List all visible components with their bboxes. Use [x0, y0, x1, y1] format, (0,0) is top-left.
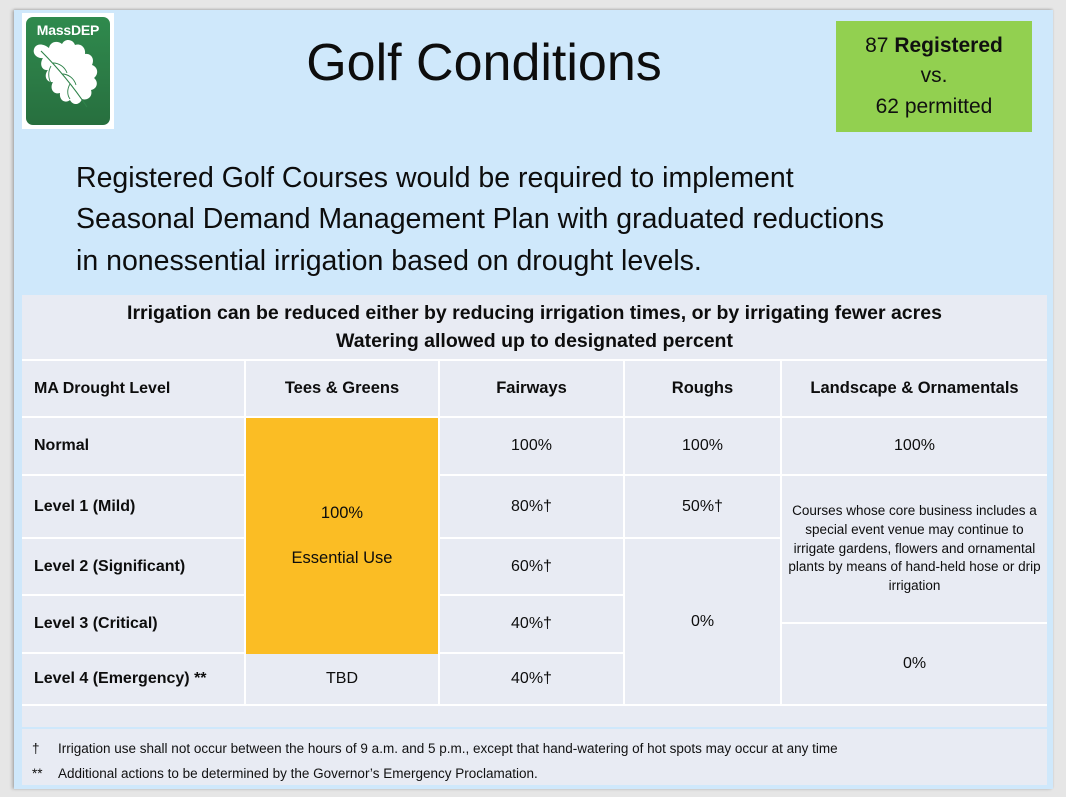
intro-line-2: Seasonal Demand Management Plan with gra… — [76, 199, 1036, 240]
table-header-roughs: Roughs — [625, 361, 782, 418]
logo-green-plate: MassDEP — [26, 17, 110, 125]
footnote-asterisk-marker: ** — [32, 762, 58, 787]
fairways-level3: 40%† — [440, 596, 625, 654]
slide: MassDEP Golf Conditions 87 Registered vs… — [14, 10, 1053, 789]
badge-line-permitted: 62 permitted — [876, 92, 993, 122]
badge-registered-word: Registered — [894, 34, 1003, 57]
page-title: Golf Conditions — [134, 35, 834, 92]
footnote-asterisk-text: Additional actions to be determined by t… — [58, 766, 538, 781]
fairways-normal: 100% — [440, 418, 625, 476]
table-header-landscape: Landscape & Ornamentals — [782, 361, 1047, 418]
table-row-label-level3: Level 3 (Critical) — [22, 596, 246, 654]
footnote-dagger-text: Irrigation use shall not occur between t… — [58, 741, 838, 756]
table-row-label-level4: Level 4 (Emergency) ** — [22, 654, 246, 706]
table-row-label-level1: Level 1 (Mild) — [22, 476, 246, 539]
footnote-dagger: †Irrigation use shall not occur between … — [32, 737, 1047, 762]
badge-line-registered: 87 Registered — [865, 31, 1003, 61]
table-row-label-normal: Normal — [22, 418, 246, 476]
intro-line-1: Registered Golf Courses would be require… — [76, 158, 1036, 199]
table-caption-line-1: Irrigation can be reduced either by redu… — [127, 299, 942, 327]
footnotes: †Irrigation use shall not occur between … — [22, 729, 1047, 785]
badge-registered-count: 87 — [865, 34, 894, 57]
roughs-level2-4: 0% — [625, 539, 782, 706]
landscape-level4: 0% — [782, 624, 1047, 706]
oak-leaf-icon — [29, 37, 107, 121]
badge-line-vs: vs. — [921, 61, 948, 91]
tees-greens-percent: 100% — [321, 504, 363, 523]
table-caption-line-2: Watering allowed up to designated percen… — [336, 327, 733, 355]
fairways-level4: 40%† — [440, 654, 625, 706]
roughs-normal: 100% — [625, 418, 782, 476]
intro-paragraph: Registered Golf Courses would be require… — [76, 158, 1036, 282]
tees-greens-essential-use-label: Essential Use — [292, 549, 393, 568]
intro-line-3: in nonessential irrigation based on drou… — [76, 241, 1036, 282]
fairways-level2: 60%† — [440, 539, 625, 596]
table-header-drought-level: MA Drought Level — [22, 361, 246, 418]
fairways-level1: 80%† — [440, 476, 625, 539]
table-header-fairways: Fairways — [440, 361, 625, 418]
tees-greens-essential-use-cell: 100% Essential Use — [246, 418, 440, 654]
table-header-tees-greens: Tees & Greens — [246, 361, 440, 418]
screenshot-canvas: MassDEP Golf Conditions 87 Registered vs… — [0, 0, 1066, 797]
table-grid: MA Drought Level Tees & Greens Fairways … — [22, 361, 1047, 729]
tees-greens-level4: TBD — [246, 654, 440, 706]
registered-vs-permitted-badge: 87 Registered vs. 62 permitted — [836, 21, 1032, 132]
drought-restrictions-table: Irrigation can be reduced either by redu… — [22, 295, 1047, 727]
massdep-logo: MassDEP — [22, 13, 114, 129]
footnote-dagger-marker: † — [32, 737, 58, 762]
landscape-normal: 100% — [782, 418, 1047, 476]
logo-wordmark: MassDEP — [26, 22, 110, 38]
footnote-asterisk: **Additional actions to be determined by… — [32, 762, 1047, 787]
roughs-level1: 50%† — [625, 476, 782, 539]
table-caption: Irrigation can be reduced either by redu… — [22, 295, 1047, 361]
landscape-level1-3-note: Courses whose core business includes a s… — [782, 476, 1047, 624]
table-row-label-level2: Level 2 (Significant) — [22, 539, 246, 596]
